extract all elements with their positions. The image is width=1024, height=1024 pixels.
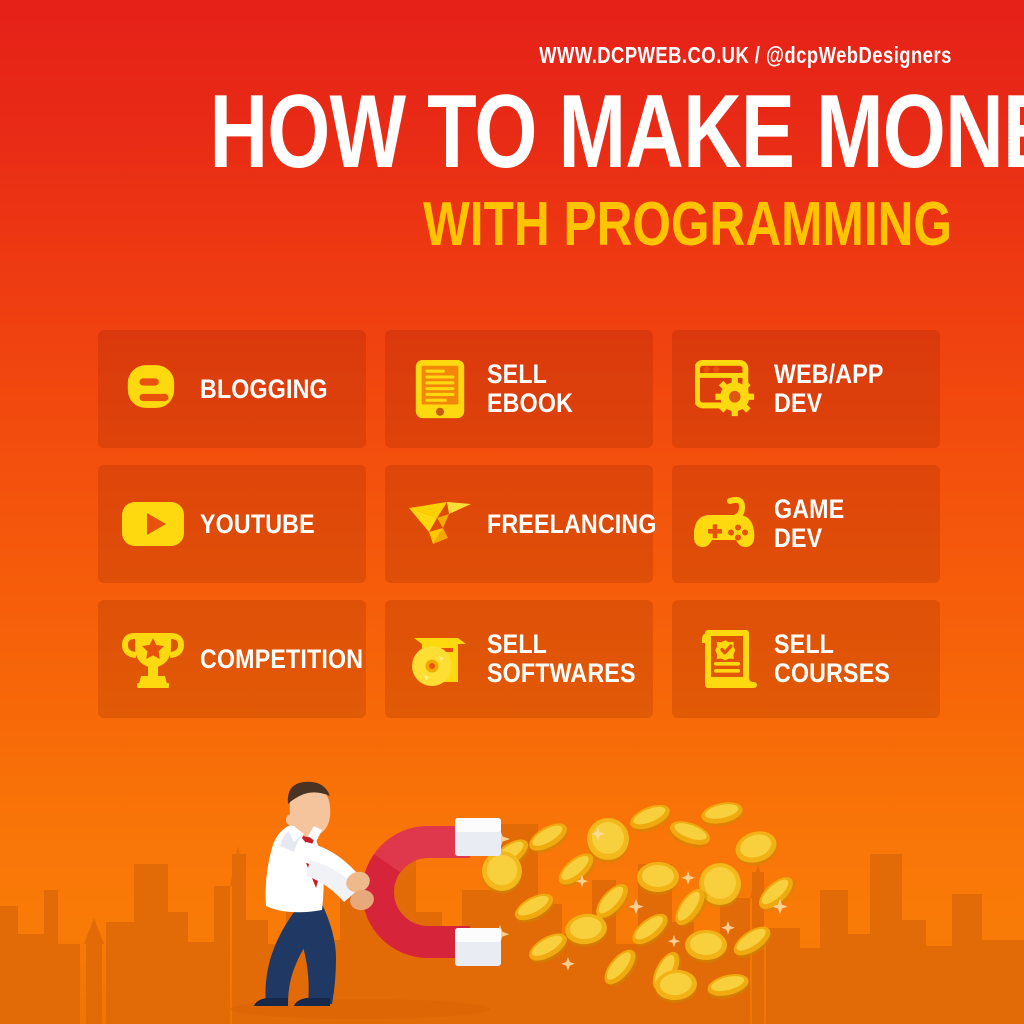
browser-gear-icon [694,356,760,422]
card-sell-ebook[interactable]: SELL EBOOK [385,330,653,448]
trophy-icon [120,626,186,692]
card-web-app-dev[interactable]: WEB/APP DEV [672,330,940,448]
card-label: GAME DEV [774,495,844,552]
card-sell-courses[interactable]: SELL COURSES [672,600,940,718]
businessman-figure [254,782,376,1006]
card-freelancing[interactable]: FREELANCING [385,465,653,583]
method-grid: BLOGGING SELL [98,330,944,718]
card-label: WEB/APP DEV [774,360,884,417]
horseshoe-magnet [362,818,501,966]
card-youtube[interactable]: YOUTUBE [98,465,366,583]
poster-canvas: WWW.DCPWEB.CO.UK / @dcpWebDesigners HOW … [0,0,1024,1024]
certificate-scroll-icon [694,626,760,692]
page-subtitle: WITH PROGRAMMING [190,197,952,253]
tablet-ebook-icon [407,356,473,422]
youtube-play-icon [120,491,186,557]
card-label: SELL COURSES [774,630,890,687]
businessman-magnet-illustration [0,764,1024,1024]
card-label: SELL EBOOK [487,360,573,417]
shoe-back [254,998,288,1006]
card-label: FREELANCING [487,510,657,539]
title-block: HOW TO MAKE MONEY WITH PROGRAMMING [0,88,952,253]
page-title: HOW TO MAKE MONEY [209,88,952,177]
card-game-dev[interactable]: GAME DEV [672,465,940,583]
card-label: COMPETITION [200,645,363,674]
card-label: YOUTUBE [200,510,315,539]
blogger-b-icon [120,356,186,422]
origami-bird-icon [407,491,473,557]
site-url-handle: WWW.DCPWEB.CO.UK / @dcpWebDesigners [539,42,952,69]
gamepad-icon [694,491,760,557]
card-label: BLOGGING [200,375,328,404]
card-label: SELL SOFTWARES [487,630,636,687]
card-sell-softwares[interactable]: SELL SOFTWARES [385,600,653,718]
shoe-front [294,998,330,1006]
cd-disc-box-icon [407,626,473,692]
card-competition[interactable]: COMPETITION [98,600,366,718]
card-blogging[interactable]: BLOGGING [98,330,366,448]
